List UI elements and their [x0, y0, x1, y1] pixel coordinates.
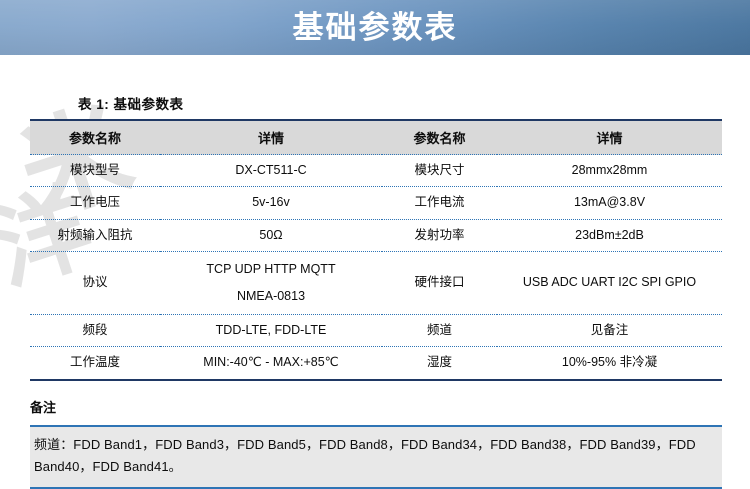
content-area: 表 1: 基础参数表 参数名称 详情 参数名称 详情 模块型号 DX-CT511…: [0, 55, 750, 489]
param-value-cell: DX-CT511-C: [160, 155, 382, 187]
column-header-param-name-right: 参数名称: [382, 120, 497, 155]
param-value-cell: 28mmx28mm: [497, 155, 722, 187]
param-name-cell: 协议: [30, 252, 160, 315]
param-value-cell: 13mA@3.8V: [497, 187, 722, 219]
param-value-cell: 5v-16v: [160, 187, 382, 219]
page-header-banner: 基础参数表: [0, 0, 750, 55]
param-name-cell: 频段: [30, 314, 160, 346]
param-value-cell: USB ADC UART I2C SPI GPIO: [497, 252, 722, 315]
param-name-cell: 模块尺寸: [382, 155, 497, 187]
table-row: 工作温度 MIN:-40℃ - MAX:+85℃ 湿度 10%-95% 非冷凝: [30, 347, 722, 380]
spec-table-body: 模块型号 DX-CT511-C 模块尺寸 28mmx28mm 工作电压 5v-1…: [30, 155, 722, 380]
param-value-cell: 10%-95% 非冷凝: [497, 347, 722, 380]
param-name-cell: 发射功率: [382, 219, 497, 251]
column-header-param-name-left: 参数名称: [30, 120, 160, 155]
param-value-cell: 见备注: [497, 314, 722, 346]
notes-heading: 备注: [30, 397, 750, 416]
param-name-cell: 工作电流: [382, 187, 497, 219]
table-row: 工作电压 5v-16v 工作电流 13mA@3.8V: [30, 187, 722, 219]
table-row: 频段 TDD-LTE, FDD-LTE 频道 见备注: [30, 314, 722, 346]
table-row: 模块型号 DX-CT511-C 模块尺寸 28mmx28mm: [30, 155, 722, 187]
param-value-cell: MIN:-40℃ - MAX:+85℃: [160, 347, 382, 380]
table-row: 射频输入阻抗 50Ω 发射功率 23dBm±2dB: [30, 219, 722, 251]
notes-text: 频道：FDD Band1，FDD Band3，FDD Band5，FDD Ban…: [34, 434, 716, 480]
table-header-row: 参数名称 详情 参数名称 详情: [30, 120, 722, 155]
param-name-cell: 湿度: [382, 347, 497, 380]
param-value-cell-multiline: TCP UDP HTTP MQTT NMEA-0813: [160, 252, 382, 315]
param-value-line-1: TCP UDP HTTP MQTT: [163, 260, 379, 279]
param-name-cell: 频道: [382, 314, 497, 346]
param-name-cell: 模块型号: [30, 155, 160, 187]
table-caption: 表 1: 基础参数表: [78, 93, 750, 113]
param-value-cell: 23dBm±2dB: [497, 219, 722, 251]
param-name-cell: 射频输入阻抗: [30, 219, 160, 251]
param-name-cell: 硬件接口: [382, 252, 497, 315]
page-title: 基础参数表: [293, 12, 458, 43]
param-name-cell: 工作电压: [30, 187, 160, 219]
param-value-cell: TDD-LTE, FDD-LTE: [160, 314, 382, 346]
column-header-detail-right: 详情: [497, 120, 722, 155]
param-name-cell: 工作温度: [30, 347, 160, 380]
param-value-cell: 50Ω: [160, 219, 382, 251]
spec-table-container: 参数名称 详情 参数名称 详情 模块型号 DX-CT511-C 模块尺寸 28m…: [30, 119, 722, 381]
table-row: 协议 TCP UDP HTTP MQTT NMEA-0813 硬件接口 USB …: [30, 252, 722, 315]
column-header-detail-left: 详情: [160, 120, 382, 155]
spec-table: 参数名称 详情 参数名称 详情 模块型号 DX-CT511-C 模块尺寸 28m…: [30, 119, 722, 381]
spec-table-header: 参数名称 详情 参数名称 详情: [30, 120, 722, 155]
notes-box: 频道：FDD Band1，FDD Band3，FDD Band5，FDD Ban…: [30, 425, 722, 489]
param-value-line-2: NMEA-0813: [163, 287, 379, 306]
